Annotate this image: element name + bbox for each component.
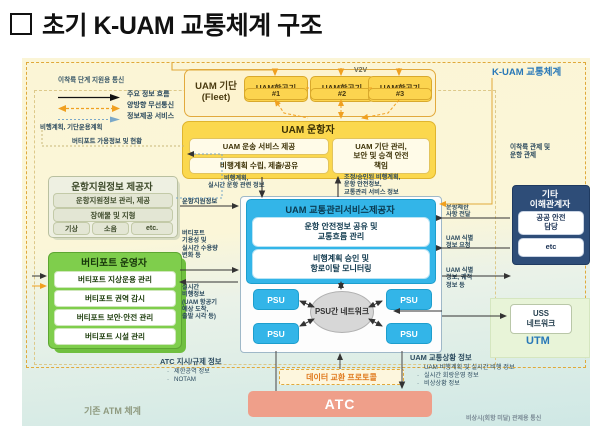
diagram-canvas: K-UAM 교통체계 기존 ATM 체계 이착륙 단계 지원용 통신 주요 정보… [22, 58, 590, 426]
label-vertiport-capacity: 버티포트 기용성 및 실시간 수용량 변화 등 [182, 230, 218, 259]
vertiport-sub-3: 버티포트 시설 관리 [54, 328, 176, 345]
uam-traffic-title: UAM 교통상황 정보 [410, 354, 472, 363]
other-stakeholders-title: 기타 이해관계자 [512, 188, 588, 210]
label-emergency-comm: 비상시(회항 미달) 관제용 통신 [466, 416, 541, 423]
v2v-label: V2V [354, 67, 367, 75]
atc-directive-bullet-0: 제한공역 정보 [174, 368, 210, 375]
legend-label-2: 정보제공 서비스 [127, 111, 174, 121]
uss-network-box: USS 네트워크 [510, 304, 572, 334]
uam-bullet-dot-1: · [417, 372, 419, 379]
legend: 이착륙 단계 지원용 통신 주요 정보 흐름 양방향 무선통신 정보제공 서비스 [38, 66, 186, 120]
label-restriction-notice: 운항제한 사항 전달 [446, 204, 471, 219]
atc-directive-bullet-1: NOTAM [174, 376, 196, 383]
uam-traffic-bullet-2: 비상상황 정보 [424, 380, 460, 387]
provider-chip-0: 기상 [53, 222, 90, 235]
legend-item-info-service: 정보제공 서비스 [58, 110, 174, 121]
page-title: 초기 K-UAM 교통체계 구조 [42, 6, 322, 42]
solid-black-arrow-icon [58, 89, 120, 98]
aircraft-3-id: #3 [368, 88, 432, 100]
aircraft-1-id: #1 [244, 88, 308, 100]
legend-label-0: 주요 정보 흐름 [127, 89, 170, 99]
psu-node-0[interactable]: PSU [253, 289, 299, 310]
service-sub-0: 운항 안전정보 공유 및 교통흐름 관리 [252, 217, 430, 247]
label-flight-plan-realtime: 비행계획, 실시간 운항 관련 정보 [208, 175, 264, 190]
uam-operator-title: UAM 운항자 [182, 122, 434, 135]
caption-k-uam-system: K-UAM 교통체계 [492, 64, 561, 78]
uam-bullet-dot-2: · [417, 380, 419, 387]
page-header: 초기 K-UAM 교통체계 구조 [10, 6, 322, 42]
bullet-square-icon [10, 13, 32, 35]
traffic-service-provider-title: UAM 교통관리서비스제공자 [246, 202, 434, 215]
legend-item-main-flow: 주요 정보 흐름 [58, 88, 170, 99]
psu-node-2[interactable]: PSU [253, 323, 299, 344]
stakeholder-sub-0: 공공 안전 담당 [518, 211, 584, 235]
vertiport-sub-0: 버티포트 지상운용 관리 [54, 271, 176, 288]
atc-bullet-dot-1: · [167, 376, 169, 383]
caption-legacy-atm: 기존 ATM 체계 [84, 404, 141, 417]
label-takeoff-control: 이착륙 관제 및 운항 관제 [510, 144, 550, 160]
vertiport-operator-title: 버티포트 운영자 [48, 255, 180, 269]
blue-dotted-arrow-icon [58, 111, 120, 120]
operator-sub-1: 비행계획 수립, 제출/공유 [189, 157, 329, 174]
psu-node-3[interactable]: PSU [386, 323, 432, 344]
provider-chip-1: 소음 [92, 222, 129, 235]
operator-sub-2: UAM 기단 관리, 보안 및 승객 안전 책임 [332, 138, 430, 174]
utm-label: UTM [526, 335, 550, 347]
label-id-request: UAM 식별 정보 요청 [446, 235, 473, 250]
label-vertiport-availability: 버티포트 가용정보 및 현황 [72, 138, 142, 146]
stakeholder-sub-1: etc [518, 238, 584, 257]
provider-sub-1: 장애물 및 지형 [53, 208, 173, 222]
legend-heading: 이착륙 단계 지원용 통신 [58, 74, 124, 84]
flight-info-provider-title: 운항지원정보 제공자 [48, 179, 176, 192]
legend-label-1: 양방향 무선통신 [127, 100, 174, 110]
label-approved-plan: 조정/승인된 비행계획, 운항 안전정보, 교통관리 서비스 정보 [344, 174, 400, 196]
operator-sub-0: UAM 운송 서비스 제공 [189, 138, 329, 155]
data-exchange-protocol-box: 데이터 교환 프로토콜 [279, 369, 404, 385]
service-sub-1: 비행계획 승인 및 항로이탈 모니터링 [252, 249, 430, 279]
orange-dashed-bidirectional-arrow-icon [58, 100, 120, 109]
uam-traffic-bullet-1: 실시간 회랑운영 정보 [424, 372, 479, 379]
provider-sub-0: 운항지원정보 관리, 제공 [53, 193, 173, 208]
atc-directive-title: ATC 지시/규제 정보 [160, 358, 222, 367]
uam-traffic-bullet-0: UAM 비행계획 및 실시간 비행 정보 [424, 364, 515, 371]
label-plan-fleet-plan: 비행계획, 기단운용계획 [40, 124, 102, 132]
vertiport-sub-2: 버티포트 보안·안전 관리 [54, 309, 176, 326]
atc-bullet-dot-0: · [167, 368, 169, 375]
legend-item-two-way-wireless: 양방향 무선통신 [58, 99, 174, 110]
vertiport-sub-1: 버티포트 권역 감시 [54, 290, 176, 307]
label-id-track-info: UAM 식별 정보, 궤적 정보 등 [446, 267, 473, 289]
provider-chip-2: etc. [131, 222, 173, 235]
atc-bar: ATC [248, 391, 432, 417]
psu-node-1[interactable]: PSU [386, 289, 432, 310]
aircraft-2-id: #2 [310, 88, 374, 100]
label-realtime-flight-info: 실시간 비행정보 (UAM 항공기 예상 도착, 출발 시각 등) [182, 284, 217, 321]
label-support-info: 운항지원정보 [182, 198, 217, 206]
psu-network-ellipse: PSU간 네트워크 [310, 291, 374, 333]
fleet-label: UAM 기단 (Fleet) [190, 74, 242, 110]
uam-bullet-dot-0: · [417, 364, 419, 371]
